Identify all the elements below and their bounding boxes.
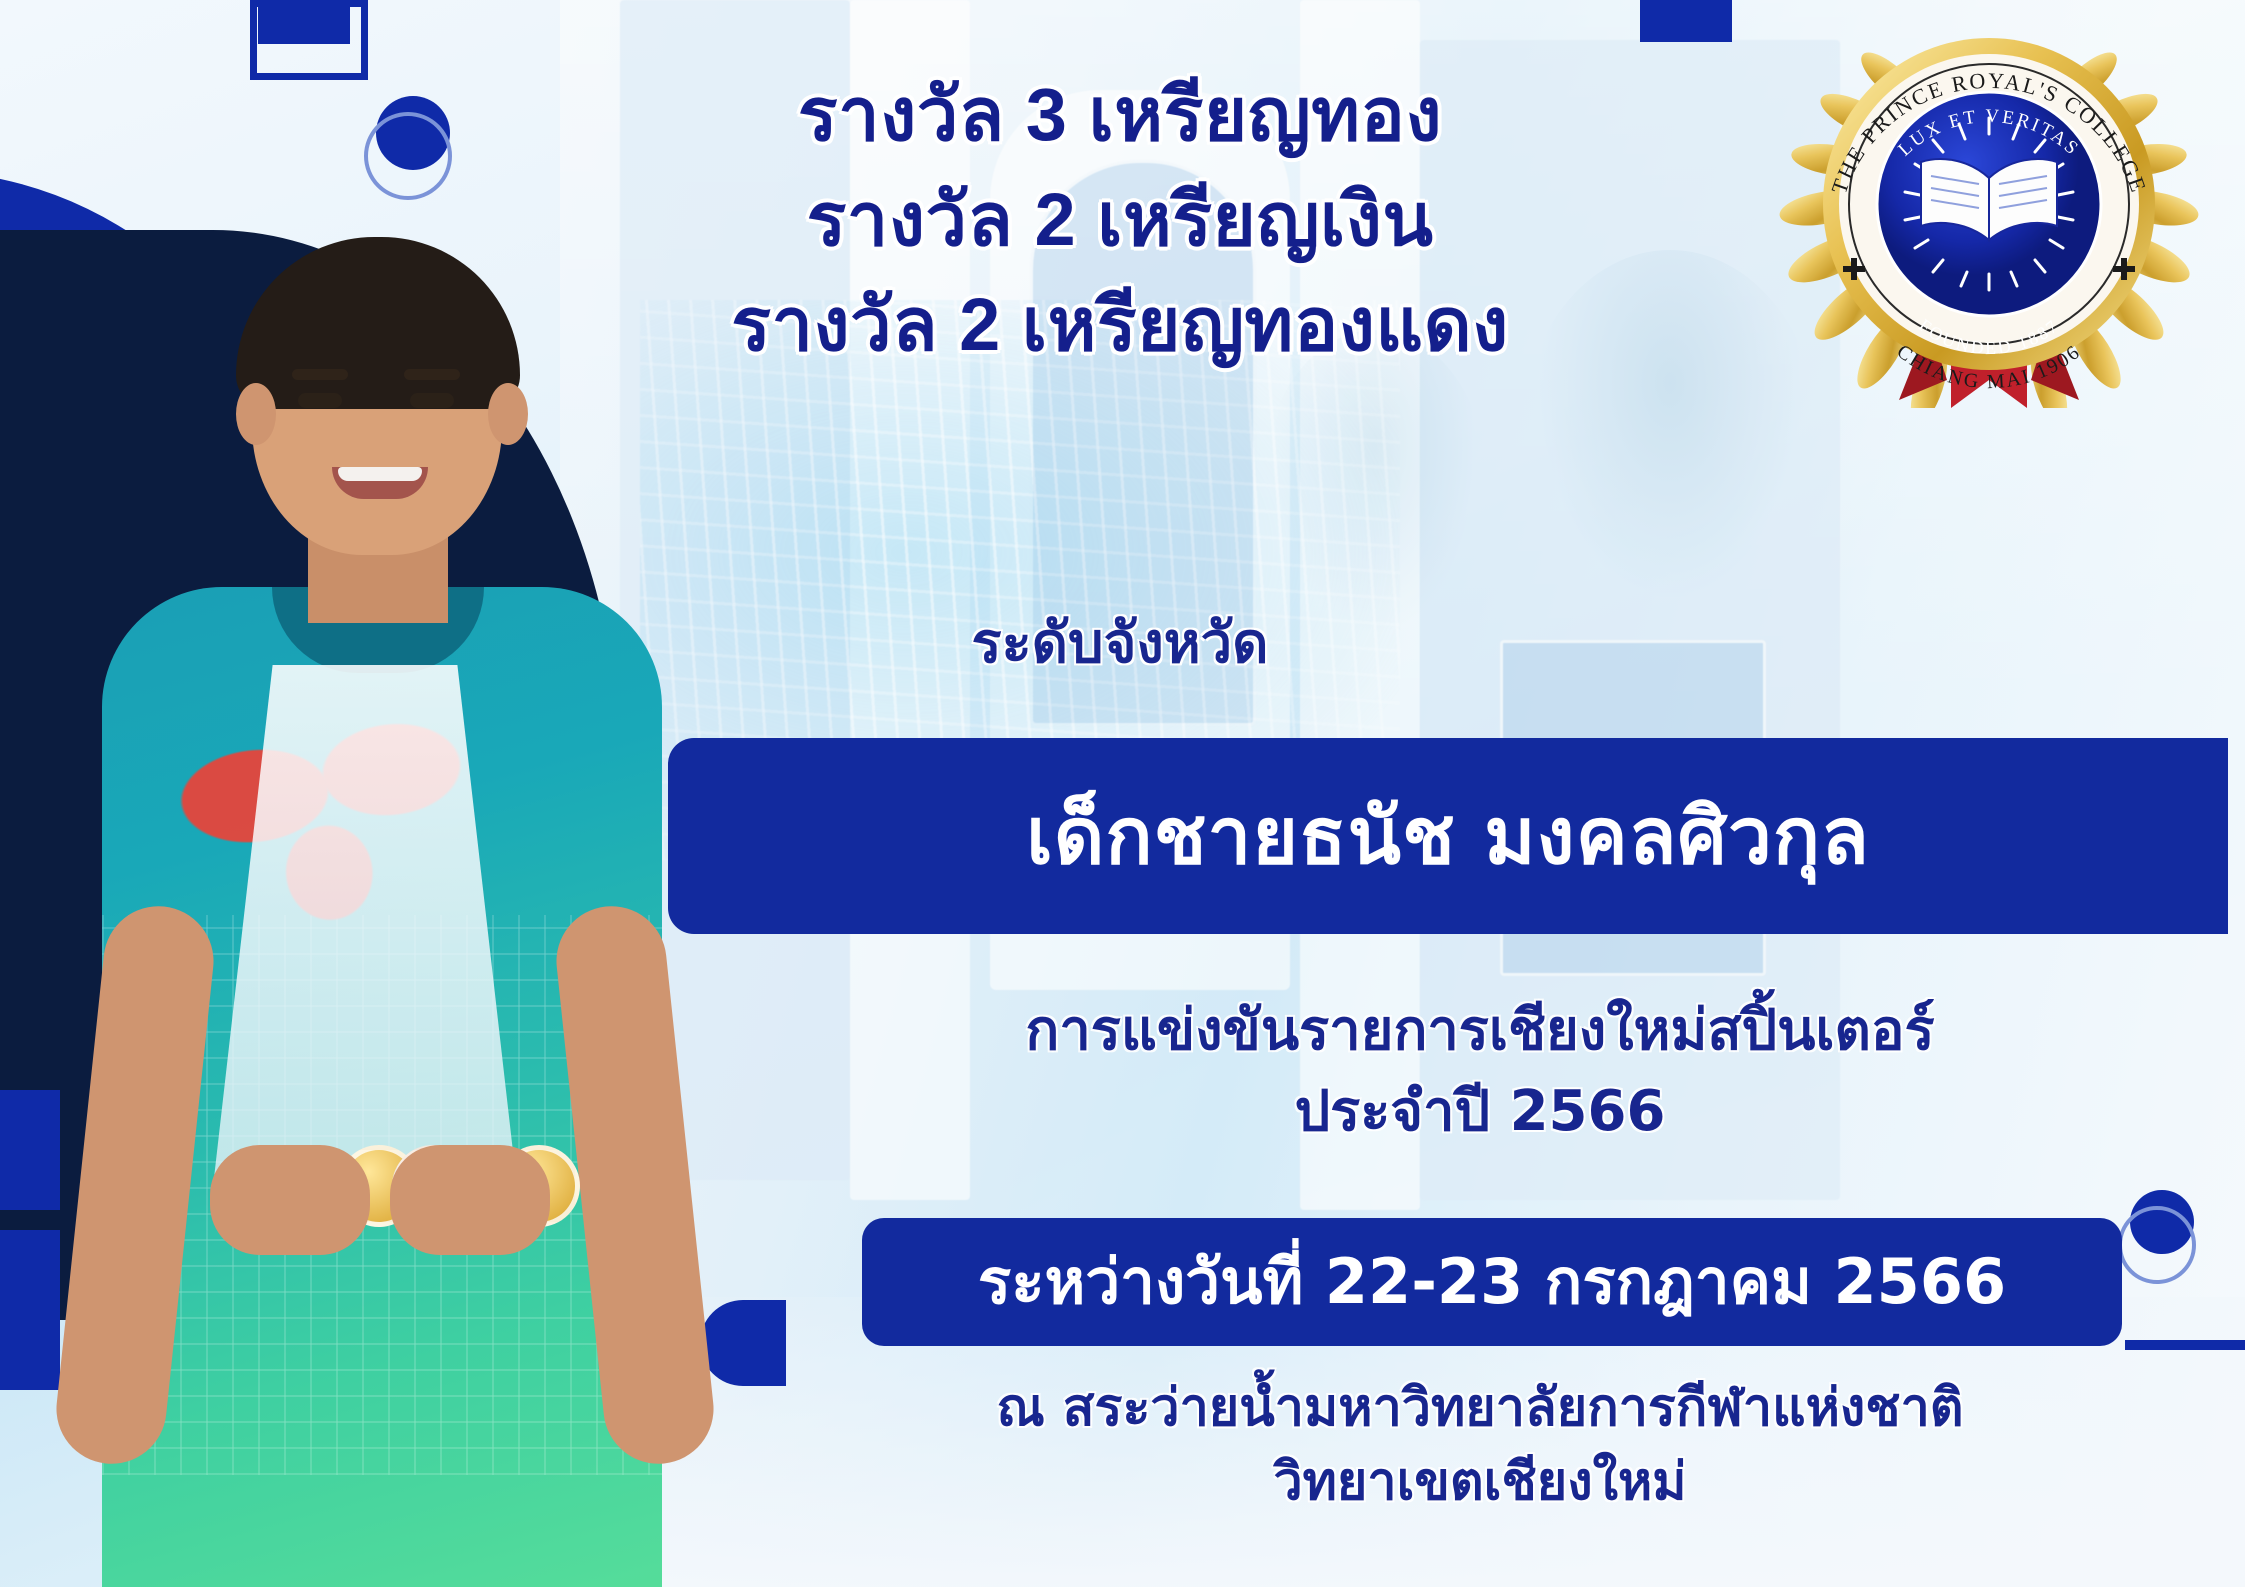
event-date-banner: ระหว่างวันที่ 22-23 กรกฎาคม 2566 — [862, 1218, 2122, 1346]
headline-line-silver: รางวัล 2 เหรียญเงิน — [470, 167, 1770, 272]
deco-square-top-right — [1640, 0, 1732, 42]
headline-block: รางวัล 3 เหรียญทอง รางวัล 2 เหรียญเงิน ร… — [470, 62, 1770, 377]
venue-block: ณ สระว่ายน้ำมหาวิทยาลัยการกีฬาแห่งชาติ ว… — [790, 1372, 2170, 1520]
event-date: ระหว่างวันที่ 22-23 กรกฎาคม 2566 — [978, 1233, 2006, 1331]
deco-tick-line — [2125, 1340, 2245, 1350]
headline-line-gold: รางวัล 3 เหรียญทอง — [470, 62, 1770, 167]
headline-line-bronze: รางวัล 2 เหรียญทองแดง — [470, 272, 1770, 377]
event-year: ประจำปี 2566 — [800, 1071, 2160, 1152]
competition-level: ระดับจังหวัด — [720, 598, 1520, 687]
venue-line-1: ณ สระว่ายน้ำมหาวิทยาลัยการกีฬาแห่งชาติ — [790, 1372, 2170, 1446]
athlete-name-banner: เด็กชายธนัช มงคลศิวกุล — [668, 738, 2228, 934]
venue-line-2: วิทยาเขตเชียงใหม่ — [790, 1446, 2170, 1520]
event-name: การแข่งขันรายการเชียงใหม่สปิ้นเตอร์ — [800, 990, 2160, 1071]
deco-circle-outline-right — [2118, 1206, 2196, 1284]
event-block: การแข่งขันรายการเชียงใหม่สปิ้นเตอร์ ประจ… — [800, 990, 2160, 1152]
award-poster: THE PRINCE ROYAL'S COLLEGE CHIANG MAI 19… — [0, 0, 2245, 1587]
deco-circle-outline — [364, 112, 452, 200]
deco-square-outline-top-left — [250, 0, 368, 80]
school-crest: THE PRINCE ROYAL'S COLLEGE CHIANG MAI 19… — [1779, 8, 2199, 408]
athlete-photo — [40, 215, 740, 1587]
athlete-name: เด็กชายธนัช มงคลศิวกุล — [1026, 774, 1870, 898]
